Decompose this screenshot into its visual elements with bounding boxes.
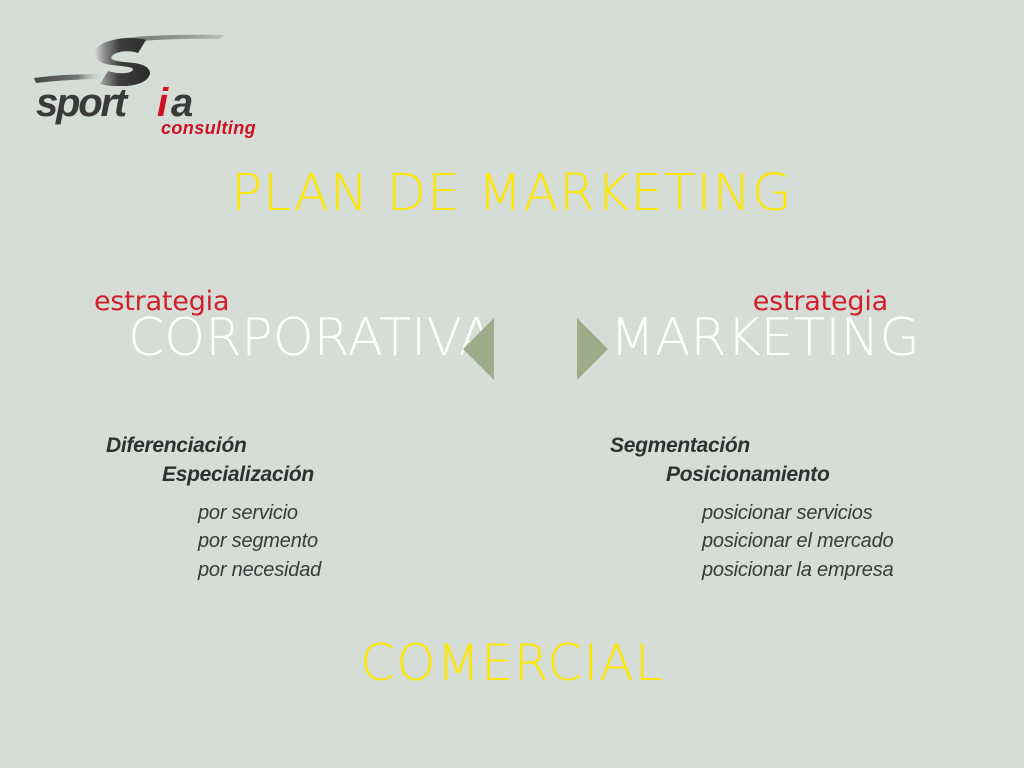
triangle-right-icon — [577, 318, 608, 380]
content-heading: Diferenciación — [106, 432, 321, 461]
list-item: posicionar la empresa — [702, 556, 893, 584]
wordmark-sport: sport — [36, 83, 129, 125]
footer-title: COMERCIAL — [0, 638, 1024, 688]
branch-heading-corporativa: estrategia CORPORATIVA — [88, 288, 494, 365]
wordmark-tagline: consulting — [161, 118, 256, 138]
list-item: por segmento — [198, 527, 321, 555]
branch-name-corporativa: CORPORATIVA — [128, 312, 494, 365]
sportia-logo[interactable]: sport i a consulting — [34, 30, 264, 138]
list-item: posicionar el mercado — [702, 527, 893, 555]
page-title: PLAN DE MARKETING — [0, 168, 1024, 219]
content-sub-list: posicionar servicios posicionar el merca… — [610, 499, 893, 584]
sportia-s-swoosh-icon — [34, 30, 264, 86]
content-heading: Segmentación — [610, 432, 893, 461]
slide-canvas: sport i a consulting PLAN DE MARKETING e… — [0, 0, 1024, 768]
content-block-marketing: Segmentación Posicionamiento posicionar … — [610, 432, 893, 584]
list-item: por necesidad — [198, 556, 321, 584]
content-sub-list: por servicio por segmento por necesidad — [106, 499, 321, 584]
list-item: posicionar servicios — [702, 499, 893, 527]
triangle-left-icon — [463, 318, 494, 380]
branch-heading-marketing: estrategia MARKETING — [610, 288, 912, 365]
content-heading: Posicionamiento — [610, 461, 893, 490]
content-heading: Especialización — [106, 461, 321, 490]
content-block-corporativa: Diferenciación Especialización por servi… — [106, 432, 321, 584]
sportia-wordmark: sport i a consulting — [34, 83, 264, 138]
list-item: por servicio — [198, 499, 321, 527]
branch-name-marketing: MARKETING — [610, 312, 912, 365]
